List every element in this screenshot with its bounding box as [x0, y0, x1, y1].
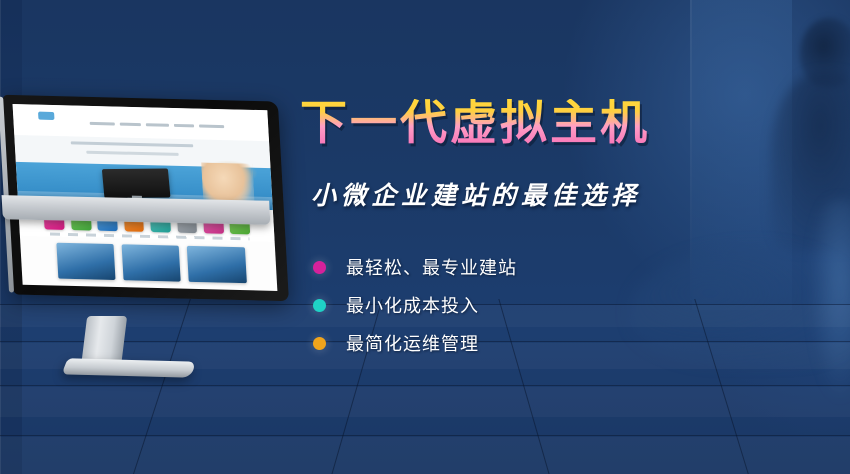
monitor-stand-base	[62, 358, 197, 377]
banner-stage: 下一代虚拟主机 小微企业建站的最佳选择 最轻松、最专业建站 最小化成本投入 最简…	[0, 0, 850, 474]
website-logo	[38, 112, 54, 120]
bullet-dot-orange	[306, 330, 332, 356]
feature-list: 最轻松、最专业建站 最小化成本投入 最简化运维管理	[306, 248, 517, 362]
website-thumbnail-row	[56, 242, 247, 283]
website-thumbnail	[121, 244, 181, 282]
bullet-dot-cyan	[306, 292, 332, 318]
page-title: 下一代虚拟主机	[300, 99, 650, 146]
list-item: 最小化成本投入	[306, 286, 517, 324]
floor-line	[0, 385, 850, 386]
list-item: 最简化运维管理	[306, 324, 517, 362]
floor-line	[0, 435, 850, 436]
bullet-dot-shape	[313, 299, 326, 312]
bullet-dot-shape	[313, 261, 326, 274]
floor-band	[0, 437, 850, 474]
page-subtitle: 小微企业建站的最佳选择	[311, 176, 641, 212]
list-item-label: 最小化成本投入	[346, 292, 479, 318]
bullet-dot-magenta	[306, 254, 332, 280]
website-thumbnail	[187, 245, 247, 283]
list-item-label: 最简化运维管理	[346, 330, 479, 356]
list-item: 最轻松、最专业建站	[306, 248, 517, 286]
list-item-label: 最轻松、最专业建站	[346, 254, 517, 280]
website-thumbnail	[56, 242, 116, 280]
bullet-dot-shape	[313, 337, 326, 350]
website-product-image	[102, 168, 171, 198]
